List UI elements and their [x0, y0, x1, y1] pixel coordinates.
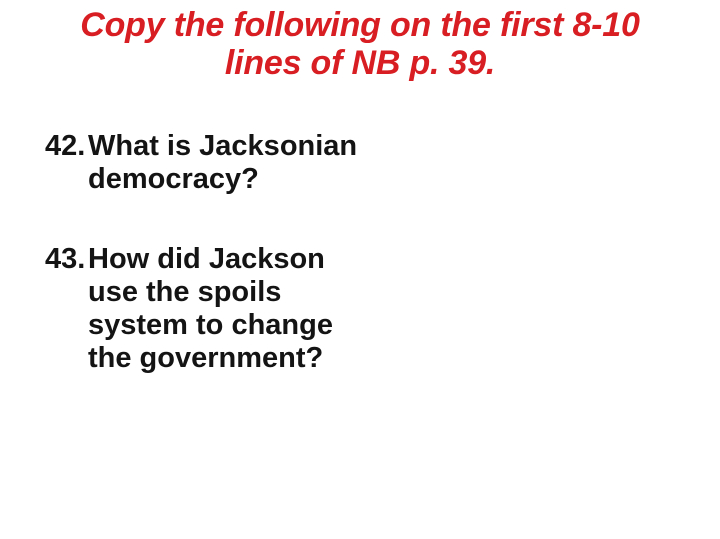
question-text: What is Jacksonian democracy? — [88, 130, 475, 196]
title-line-1: Copy the following on the first 8-10 — [0, 6, 720, 44]
question-number: 42. — [45, 130, 88, 163]
slide-title: Copy the following on the first 8-10 lin… — [0, 6, 720, 82]
question-item-42: 42. What is Jacksonian democracy? — [45, 130, 475, 196]
question-number: 43. — [45, 243, 88, 276]
question-text: How did Jackson use the spoils system to… — [88, 243, 475, 375]
title-line-2: lines of NB p. 39. — [0, 44, 720, 82]
question-list: 42. What is Jacksonian democracy? 43. Ho… — [45, 130, 475, 375]
slide-canvas: Copy the following on the first 8-10 lin… — [0, 0, 720, 539]
question-item-43: 43. How did Jackson use the spoils syste… — [45, 243, 475, 375]
